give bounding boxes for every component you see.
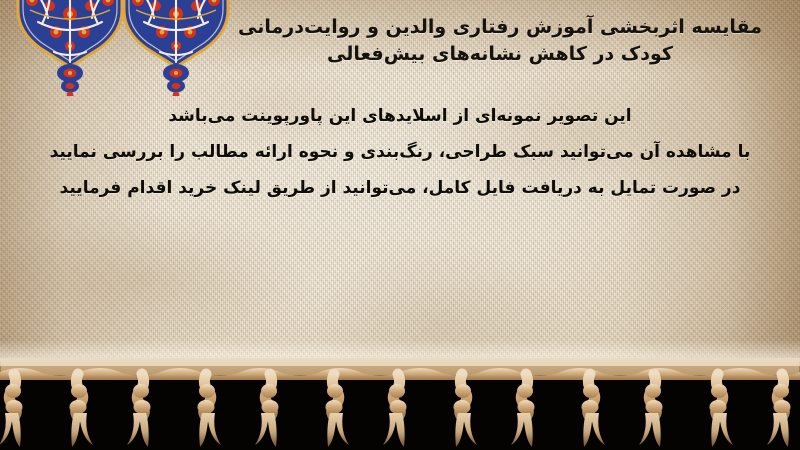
slide-body: این تصویر نمونه‌ای از اسلایدهای این پاور… xyxy=(0,104,800,201)
slide-title-line-2: کودک در کاهش نشانه‌های بیش‌فعالی xyxy=(220,41,780,68)
presentation-slide: مقایسه اثربخشی آموزش رفتاری والدین و روا… xyxy=(0,0,800,450)
slide-body-line-1: این تصویر نمونه‌ای از اسلایدهای این پاور… xyxy=(0,104,800,129)
slide-body-line-3: در صورت تمایل به دریافت فایل کامل، می‌تو… xyxy=(0,176,800,201)
slide-title-line-1: مقایسه اثربخشی آموزش رفتاری والدین و روا… xyxy=(220,14,780,41)
slide-title: مقایسه اثربخشی آموزش رفتاری والدین و روا… xyxy=(220,14,780,68)
carpet-fringe xyxy=(0,350,800,450)
fringe-tassels-icon xyxy=(0,350,800,450)
slide-body-line-2: با مشاهده آن می‌توانید سبک طراحی، رنگ‌بن… xyxy=(0,140,800,165)
